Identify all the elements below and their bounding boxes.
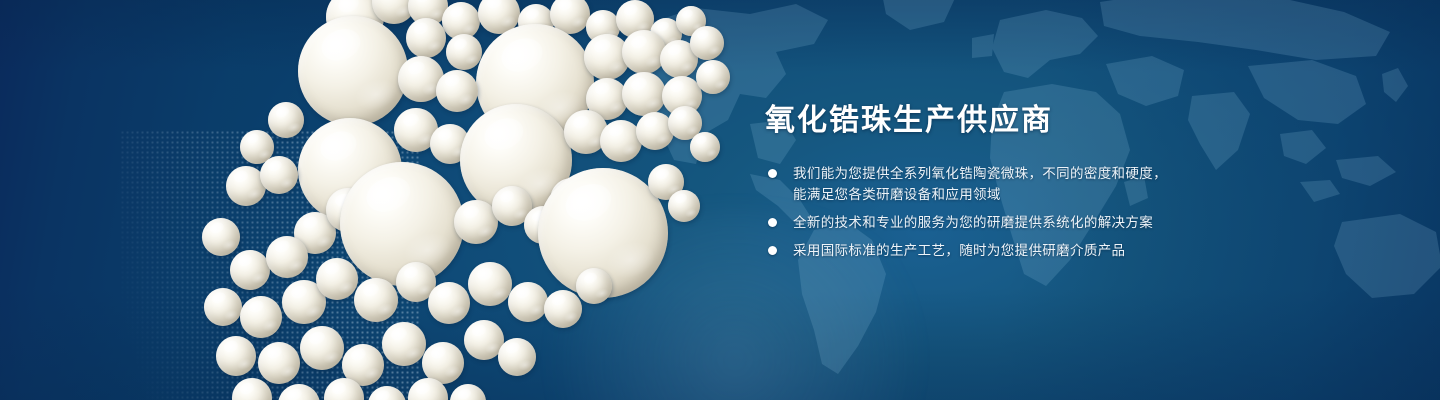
bead [446, 34, 482, 70]
banner-copy: 氧化锆珠生产供应商 我们能为您提供全系列氧化锆陶瓷微珠，不同的密度和硬度， 能满… [765, 104, 1385, 268]
bead [428, 282, 470, 324]
page-title: 氧化锆珠生产供应商 [765, 104, 1385, 137]
bead [436, 70, 478, 112]
bead [450, 384, 486, 400]
bead [622, 30, 666, 74]
feature-list: 我们能为您提供全系列氧化锆陶瓷微珠，不同的密度和硬度， 能满足您各类研磨设备和应… [765, 163, 1385, 261]
bead [382, 322, 426, 366]
bead [316, 258, 358, 300]
bead [260, 156, 298, 194]
bead [258, 342, 300, 384]
list-item-line-1: 全新的技术和专业的服务为您的研磨提供系统化的解决方案 [793, 215, 1153, 230]
bead [298, 16, 408, 126]
bead [690, 132, 720, 162]
bead [300, 326, 344, 370]
list-item-line-1: 我们能为您提供全系列氧化锆陶瓷微珠，不同的密度和硬度， [793, 166, 1167, 181]
bead [668, 190, 700, 222]
bullet-dot-icon [768, 246, 777, 255]
bead [368, 386, 406, 400]
bead [216, 336, 256, 376]
bead [278, 384, 320, 400]
list-item-line-2: 能满足您各类研磨设备和应用领域 [793, 184, 1385, 205]
bead [240, 296, 282, 338]
bead [406, 18, 446, 58]
bead-cluster [120, 0, 740, 400]
bead [690, 26, 724, 60]
bead [508, 282, 548, 322]
list-item: 采用国际标准的生产工艺，随时为您提供研磨介质产品 [765, 240, 1385, 261]
list-item: 全新的技术和专业的服务为您的研磨提供系统化的解决方案 [765, 212, 1385, 233]
bead [268, 102, 304, 138]
hero-banner: 氧化锆珠生产供应商 我们能为您提供全系列氧化锆陶瓷微珠，不同的密度和硬度， 能满… [0, 0, 1440, 400]
list-item: 我们能为您提供全系列氧化锆陶瓷微珠，不同的密度和硬度， 能满足您各类研磨设备和应… [765, 163, 1385, 205]
bead [498, 338, 536, 376]
bead [230, 250, 270, 290]
bead [576, 268, 612, 304]
zirconia-beads-photo [120, 0, 740, 400]
bullet-dot-icon [768, 169, 777, 178]
bead [544, 290, 582, 328]
list-item-line-1: 采用国际标准的生产工艺，随时为您提供研磨介质产品 [793, 243, 1125, 258]
bead [266, 236, 308, 278]
bead [622, 72, 666, 116]
bead [204, 288, 242, 326]
bead [202, 218, 240, 256]
bullet-dot-icon [768, 218, 777, 227]
bead [468, 262, 512, 306]
bead [354, 278, 398, 322]
bead [232, 378, 272, 400]
bead [696, 60, 730, 94]
